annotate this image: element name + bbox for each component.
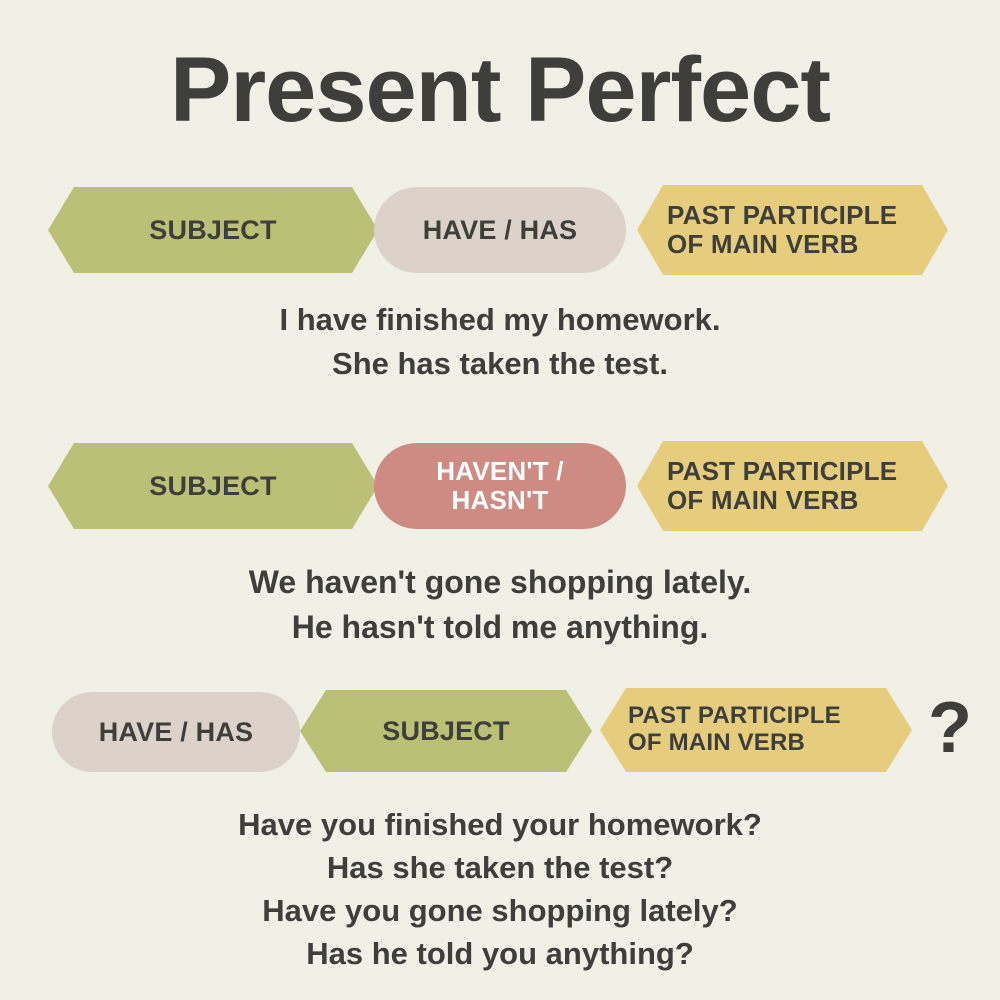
examples-affirmative: I have finished my homework. She has tak… — [0, 298, 1000, 386]
chip-subject-negative: SUBJECT — [48, 443, 378, 529]
page-title: Present Perfect — [0, 44, 1000, 136]
chip-havent-hasnt-negative: HAVEN'T / HASN'T — [374, 443, 626, 529]
example-sentence: Have you gone shopping lately? — [0, 889, 1000, 932]
chip-label: HAVE / HAS — [423, 215, 578, 245]
chip-label-line1: PAST PARTICIPLE — [667, 200, 897, 230]
chip-label-line2: OF MAIN VERB — [667, 485, 859, 515]
chip-label: HAVE / HAS — [99, 717, 254, 747]
examples-interrogative: Have you finished your homework? Has she… — [0, 803, 1000, 975]
formula-row-interrogative: HAVE / HAS SUBJECT PAST PARTICIPLE OF MA… — [0, 686, 1000, 782]
formula-row-affirmative: SUBJECT HAVE / HAS PAST PARTICIPLE OF MA… — [0, 187, 1000, 283]
chip-label: PAST PARTICIPLE OF MAIN VERB — [667, 457, 897, 515]
chip-label: PAST PARTICIPLE OF MAIN VERB — [667, 201, 897, 259]
chip-label-line2: HASN'T — [452, 485, 549, 515]
chip-label: SUBJECT — [382, 716, 509, 746]
chip-label-line2: OF MAIN VERB — [628, 729, 805, 756]
example-sentence: Have you finished your homework? — [0, 803, 1000, 846]
infographic-page: Present Perfect SUBJECT HAVE / HAS PAST … — [0, 0, 1000, 1000]
question-mark-glyph: ? — [920, 680, 980, 776]
example-sentence: Has he told you anything? — [0, 932, 1000, 975]
chip-label-line1: PAST PARTICIPLE — [628, 702, 841, 729]
chip-label-line1: HAVEN'T / — [436, 456, 563, 486]
chip-past-participle-affirmative: PAST PARTICIPLE OF MAIN VERB — [637, 185, 948, 275]
chip-label-line1: PAST PARTICIPLE — [667, 456, 897, 486]
example-sentence: We haven't gone shopping lately. — [0, 560, 1000, 605]
chip-label: PAST PARTICIPLE OF MAIN VERB — [628, 703, 841, 757]
chip-label: SUBJECT — [149, 215, 276, 245]
chip-label: SUBJECT — [149, 471, 276, 501]
example-sentence: He hasn't told me anything. — [0, 605, 1000, 650]
chip-have-has-interrogative: HAVE / HAS — [52, 692, 300, 772]
examples-negative: We haven't gone shopping lately. He hasn… — [0, 560, 1000, 650]
chip-have-has-affirmative: HAVE / HAS — [374, 187, 626, 273]
chip-subject-interrogative: SUBJECT — [300, 690, 592, 772]
chip-label: HAVEN'T / HASN'T — [436, 457, 563, 515]
chip-label-line2: OF MAIN VERB — [667, 229, 859, 259]
example-sentence: I have finished my homework. — [0, 298, 1000, 342]
formula-row-negative: SUBJECT HAVEN'T / HASN'T PAST PARTICIPLE… — [0, 443, 1000, 539]
example-sentence: She has taken the test. — [0, 342, 1000, 386]
chip-past-participle-interrogative: PAST PARTICIPLE OF MAIN VERB — [600, 688, 912, 772]
chip-subject-affirmative: SUBJECT — [48, 187, 378, 273]
chip-past-participle-negative: PAST PARTICIPLE OF MAIN VERB — [637, 441, 948, 531]
example-sentence: Has she taken the test? — [0, 846, 1000, 889]
